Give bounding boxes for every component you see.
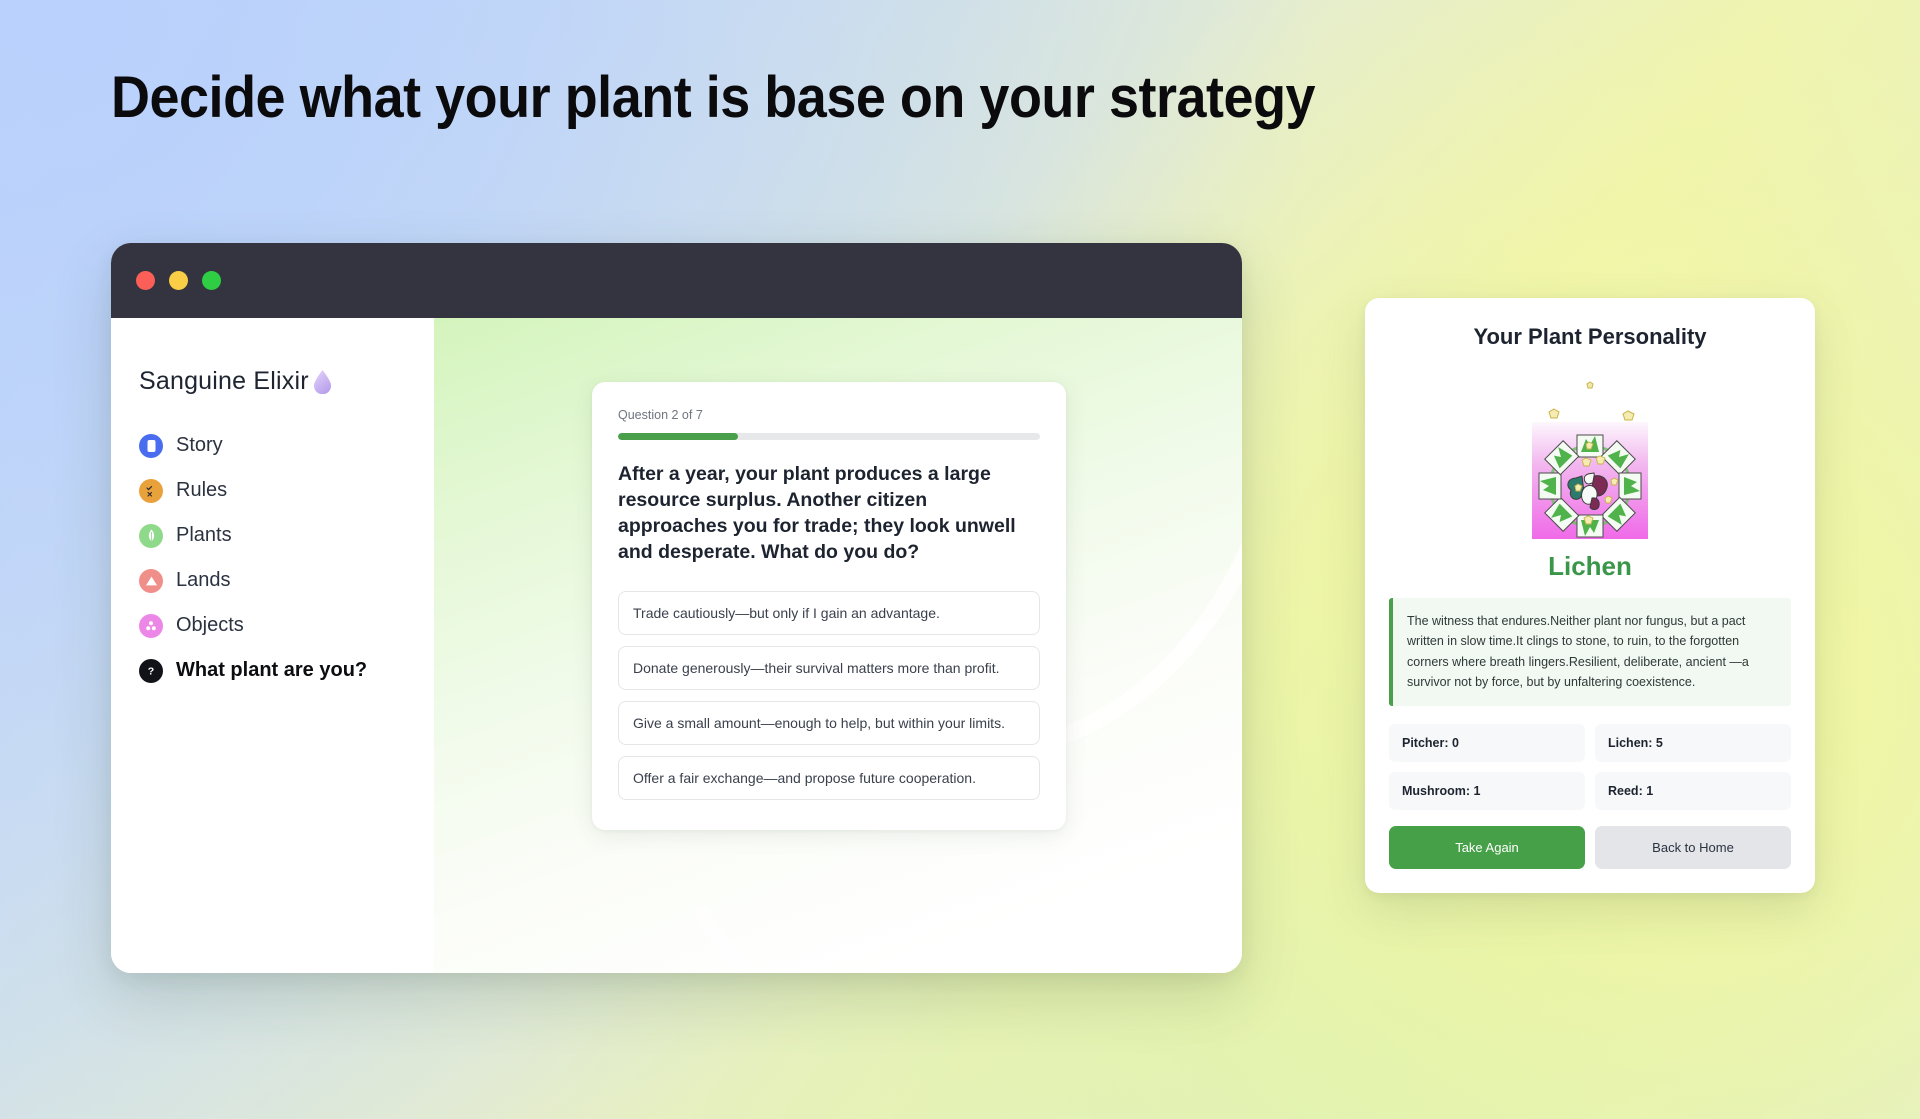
brand: Sanguine Elixir [139,367,434,396]
main-content: Question 2 of 7 After a year, your plant… [434,318,1242,973]
progress-bar [618,433,1040,440]
answer-option[interactable]: Give a small amount—enough to help, but … [618,701,1040,745]
sidebar-item-label: What plant are you? [176,659,367,682]
sidebar-item-label: Lands [176,569,231,592]
sidebar-item-label: Plants [176,524,232,547]
sidebar-item-objects[interactable]: Objects [139,603,434,648]
score-cell-lichen: Lichen: 5 [1595,724,1791,762]
plant-artwork-wrap [1389,358,1791,543]
result-title: Your Plant Personality [1389,324,1791,350]
plant-name: Lichen [1389,551,1791,582]
sidebar-item-plants[interactable]: Plants [139,513,434,558]
question-text: After a year, your plant produces a larg… [618,462,1040,566]
score-cell-reed: Reed: 1 [1595,772,1791,810]
page-title: Decide what your plant is base on your s… [111,64,1315,131]
check-x-icon [139,479,163,503]
question-counter: Question 2 of 7 [618,408,1040,422]
take-again-button[interactable]: Take Again [1389,826,1585,869]
browser-window: Sanguine Elixir [111,243,1242,973]
leaf-icon [139,524,163,548]
back-to-home-button[interactable]: Back to Home [1595,826,1791,869]
score-cell-mushroom: Mushroom: 1 [1389,772,1585,810]
result-button-row: Take Again Back to Home [1389,826,1791,869]
progress-bar-fill [618,433,738,440]
close-icon[interactable] [136,271,155,290]
quiz-card: Question 2 of 7 After a year, your plant… [592,382,1066,830]
mountain-icon [139,569,163,593]
sidebar-item-label: Rules [176,479,227,502]
maximize-icon[interactable] [202,271,221,290]
question-icon: ? [139,659,163,683]
lichen-illustration [1510,364,1670,539]
sidebar-item-label: Story [176,434,223,457]
answer-option[interactable]: Donate generously—their survival matters… [618,646,1040,690]
score-grid: Pitcher: 0 Lichen: 5 Mushroom: 1 Reed: 1 [1389,724,1791,810]
sidebar-item-lands[interactable]: Lands [139,558,434,603]
svg-text:?: ? [148,665,154,677]
sidebar-item-story[interactable]: Story [139,423,434,468]
score-cell-pitcher: Pitcher: 0 [1389,724,1585,762]
brand-label: Sanguine Elixir [139,367,309,396]
minimize-icon[interactable] [169,271,188,290]
dots-icon [139,614,163,638]
sidebar: Sanguine Elixir [111,318,434,973]
window-titlebar [111,243,1242,318]
water-drop-icon [313,369,332,394]
answer-option[interactable]: Trade cautiously—but only if I gain an a… [618,591,1040,635]
answer-option[interactable]: Offer a fair exchange—and propose future… [618,756,1040,800]
book-icon [139,434,163,458]
sidebar-item-what-plant-are-you[interactable]: ? What plant are you? [139,648,434,693]
sidebar-item-rules[interactable]: Rules [139,468,434,513]
plant-description: The witness that endures.Neither plant n… [1389,598,1791,706]
result-card: Your Plant Personality [1365,298,1815,893]
sidebar-item-label: Objects [176,614,244,637]
window-body: Sanguine Elixir [111,318,1242,973]
